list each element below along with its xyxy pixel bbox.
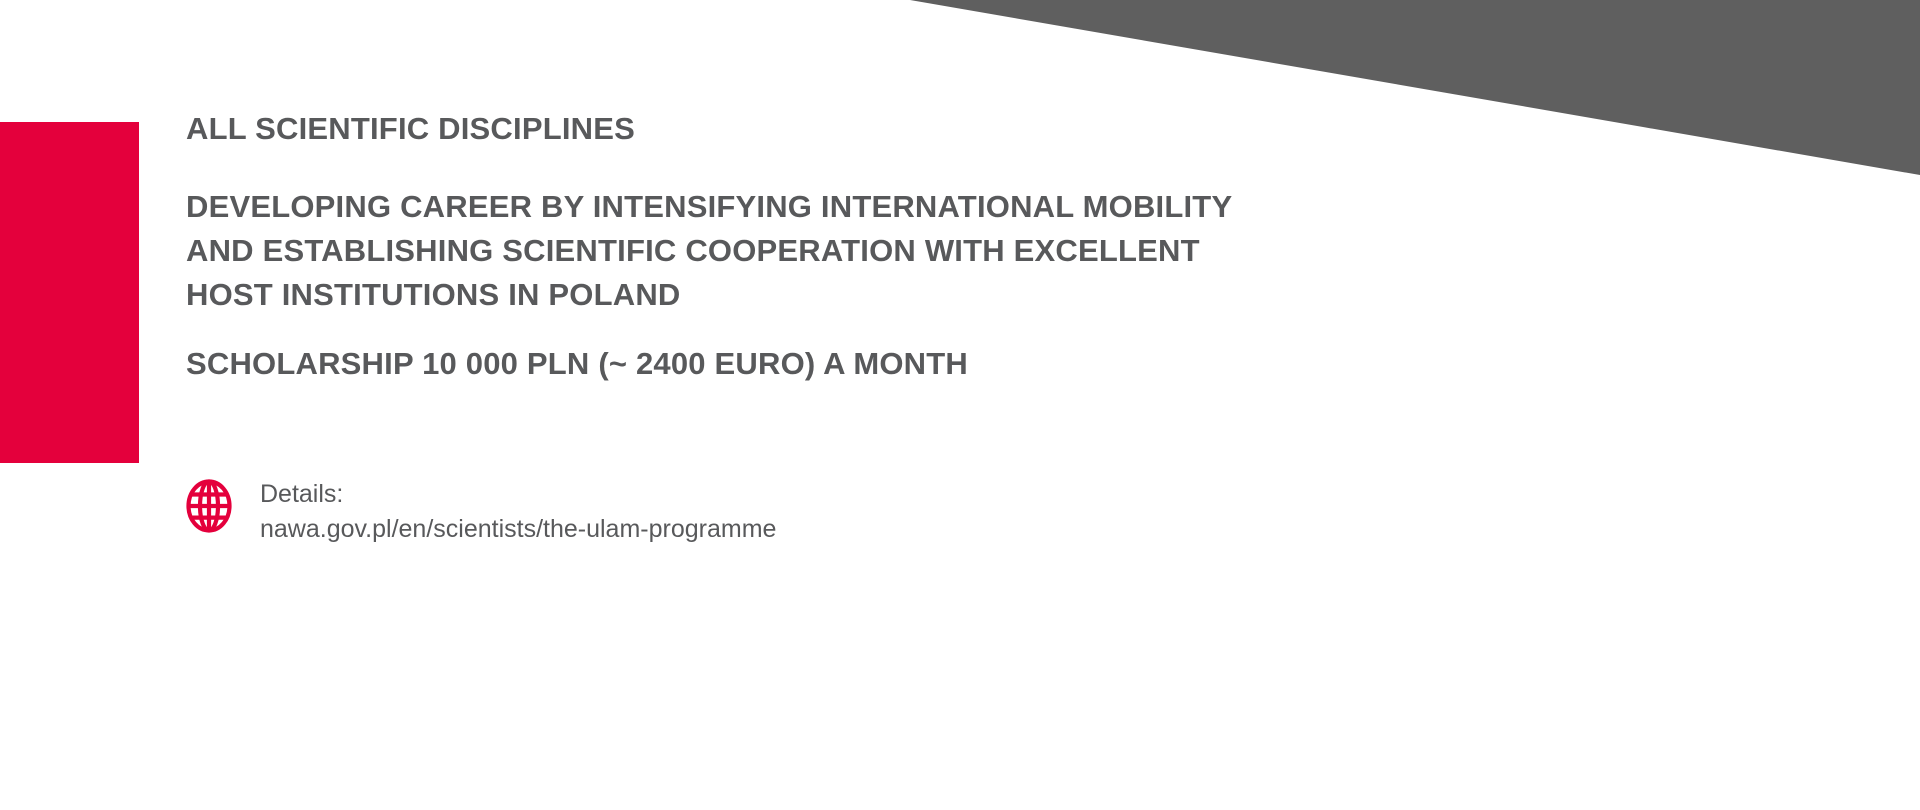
body-paragraph: DEVELOPING CAREER BY INTENSIFYING INTERN… [186,185,1516,317]
details-label: Details: [260,477,776,512]
scholarship-line: SCHOLARSHIP 10 000 PLN (~ 2400 EURO) A M… [186,345,1516,384]
globe-icon [186,479,232,533]
ulam-programme-banner: ALL SCIENTIFIC DISCIPLINES DEVELOPING CA… [0,0,1920,810]
details-url[interactable]: nawa.gov.pl/en/scientists/the-ulam-progr… [260,512,776,547]
body-line-2: AND ESTABLISHING SCIENTIFIC COOPERATION … [186,229,1516,273]
details-text: Details: nawa.gov.pl/en/scientists/the-u… [260,477,776,546]
logo-strip: THE ULAM PROGRAMME [0,570,1920,740]
details-row: Details: nawa.gov.pl/en/scientists/the-u… [186,477,776,546]
body-line-3: HOST INSTITUTIONS IN POLAND [186,273,1516,317]
banner-copy: ALL SCIENTIFIC DISCIPLINES DEVELOPING CA… [186,110,1516,384]
body-line-1: DEVELOPING CAREER BY INTENSIFYING INTERN… [186,185,1516,229]
red-accent-bar [0,122,139,463]
headline: ALL SCIENTIFIC DISCIPLINES [186,110,1516,149]
